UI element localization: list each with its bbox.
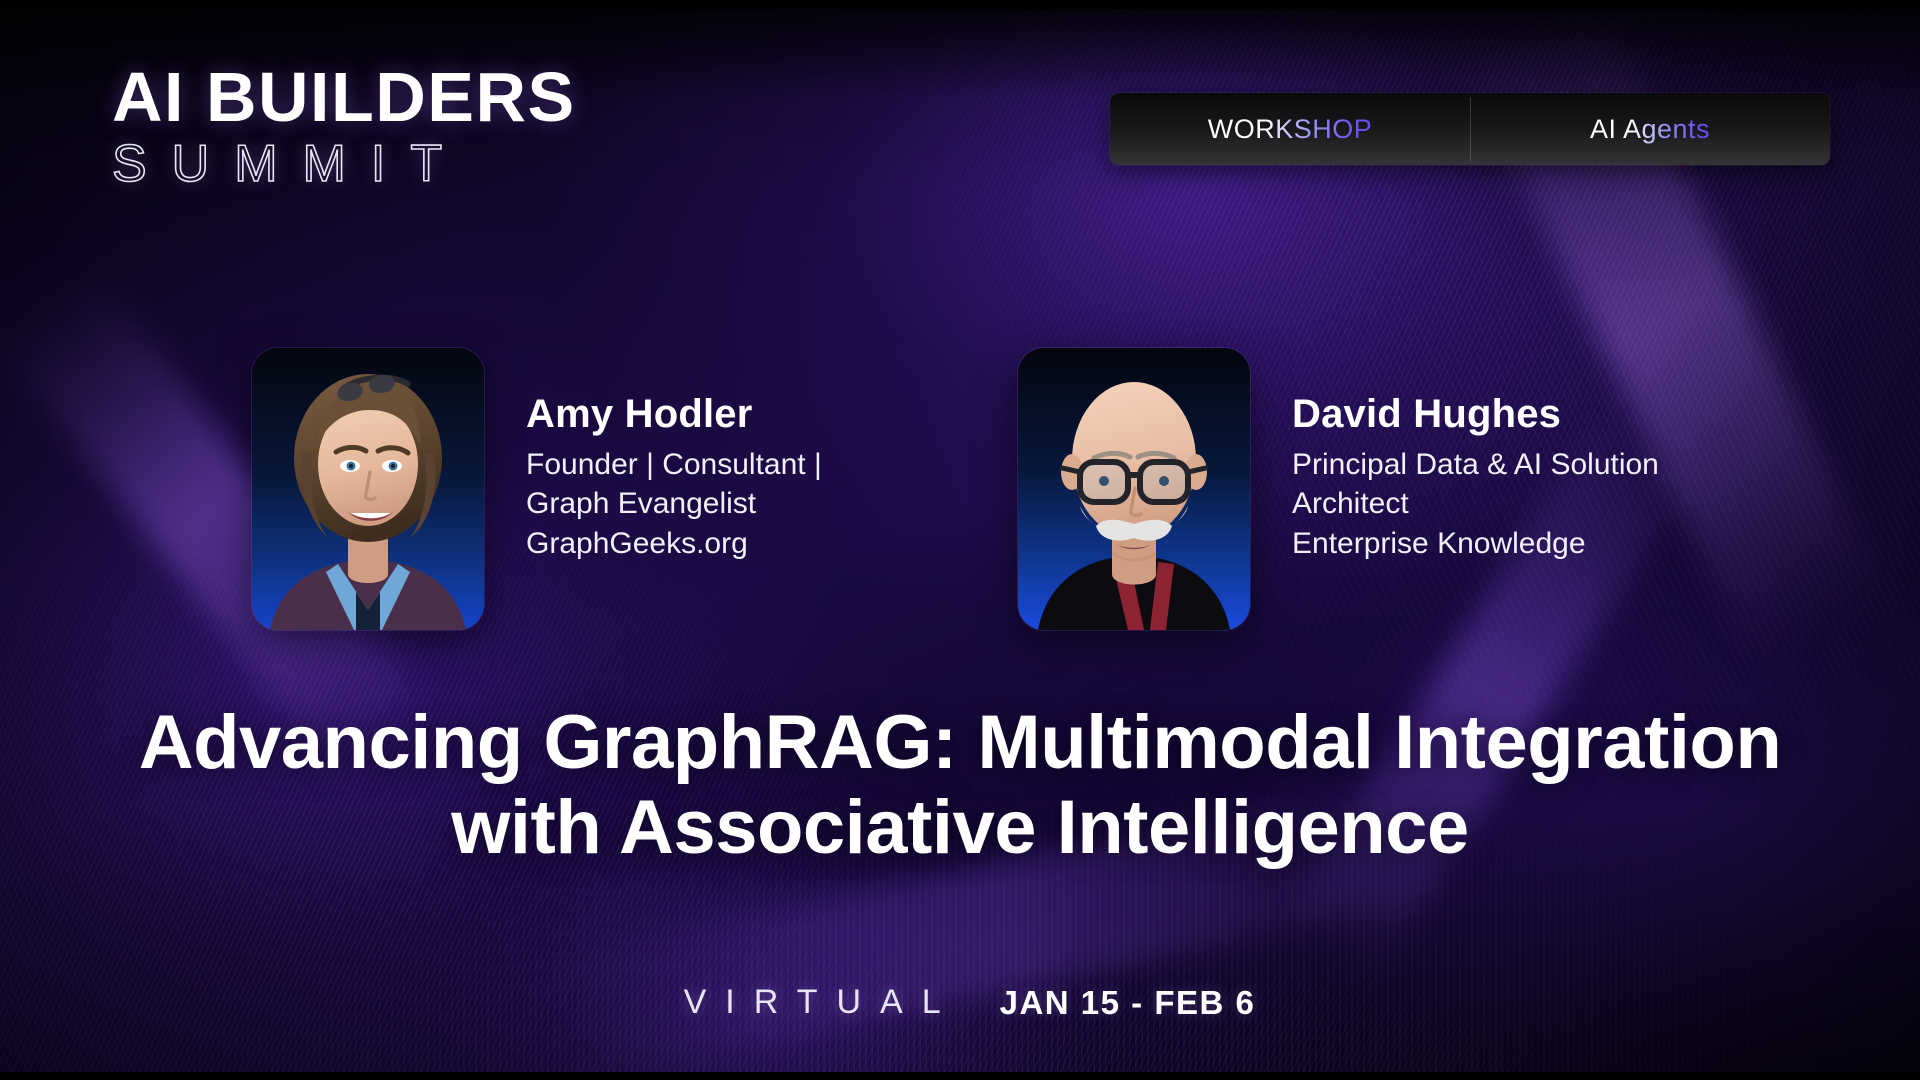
- speaker-role: Founder | Consultant | Graph Evangelist: [526, 445, 822, 525]
- presentation-slide: AI BUILDERS SUMMIT WORKSHOP AI Agents: [0, 0, 1920, 1080]
- avatar-portrait-icon: [1018, 348, 1250, 630]
- speaker-info: Amy Hodler Founder | Consultant | Graph …: [526, 348, 822, 564]
- avatar: [1018, 348, 1250, 630]
- speaker-name: David Hughes: [1292, 394, 1659, 436]
- bottom-letterbox-bar: [0, 1072, 1920, 1080]
- speakers-row: Amy Hodler Founder | Consultant | Graph …: [0, 348, 1920, 638]
- nav-item-workshop-label: WORKSHOP: [1208, 114, 1373, 145]
- speaker-name: Amy Hodler: [526, 394, 822, 436]
- event-dates-label: JAN 15 - FEB 6: [1000, 984, 1256, 1022]
- avatar: [252, 348, 484, 630]
- speaker-organization: GraphGeeks.org: [526, 524, 822, 564]
- session-title: Advancing GraphRAG: Multimodal Integrati…: [80, 700, 1840, 870]
- event-format-label: VIRTUAL: [665, 983, 960, 1022]
- logo-primary-text: AI BUILDERS: [112, 62, 692, 132]
- top-nav-bar[interactable]: WORKSHOP AI Agents: [1110, 93, 1830, 165]
- nav-item-ai-agents-label: AI Agents: [1590, 114, 1710, 145]
- speaker-organization: Enterprise Knowledge: [1292, 524, 1659, 564]
- logo-secondary-text: SUMMIT: [112, 138, 692, 190]
- event-logo: AI BUILDERS SUMMIT: [112, 62, 692, 190]
- event-footer: VIRTUAL JAN 15 - FEB 6: [665, 983, 1256, 1022]
- top-letterbox-bar: [0, 0, 1920, 9]
- avatar-portrait-icon: [252, 348, 484, 630]
- speaker-card: David Hughes Principal Data & AI Solutio…: [1018, 348, 1659, 630]
- nav-item-ai-agents[interactable]: AI Agents: [1470, 93, 1830, 165]
- speaker-info: David Hughes Principal Data & AI Solutio…: [1292, 348, 1659, 564]
- speaker-role: Principal Data & AI Solution Architect: [1292, 445, 1659, 525]
- nav-item-workshop[interactable]: WORKSHOP: [1110, 93, 1470, 165]
- speaker-card: Amy Hodler Founder | Consultant | Graph …: [252, 348, 822, 630]
